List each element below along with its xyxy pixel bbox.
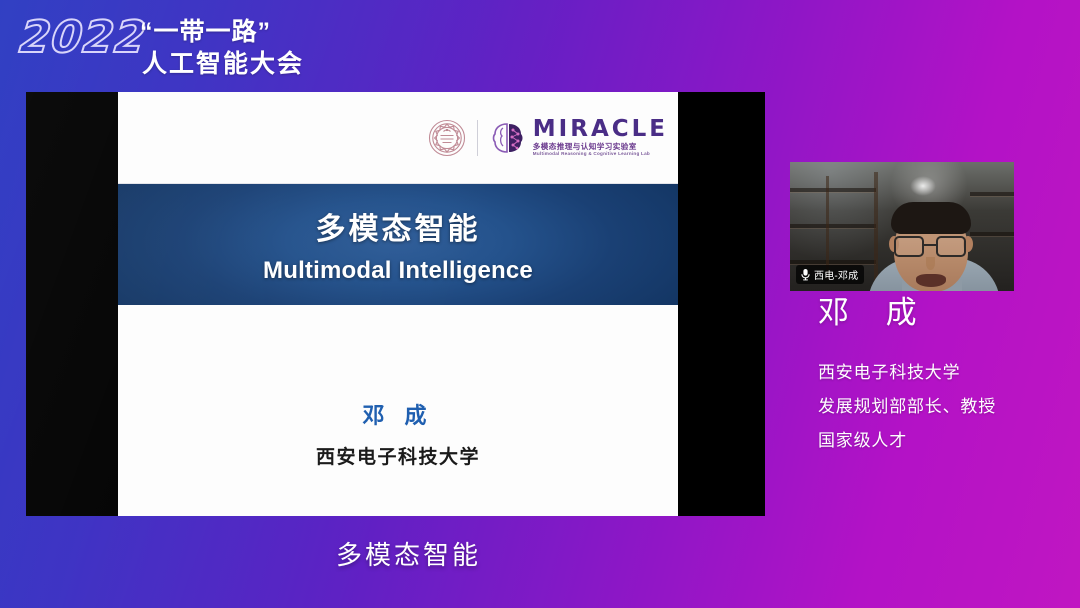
presentation-slide: MIRACLE 多模态推理与认知学习实验室 Multimodal Reasoni… bbox=[118, 92, 678, 516]
slide-speaker-name: 邓 成 bbox=[118, 398, 678, 430]
person-nose bbox=[926, 257, 935, 270]
lab-name-cn: 多模态推理与认知学习实验室 bbox=[533, 143, 668, 151]
event-logo-year: 2022 bbox=[17, 12, 149, 63]
person-mouth bbox=[916, 274, 946, 287]
shelf-board bbox=[970, 232, 1014, 236]
slide-logo-row: MIRACLE 多模态推理与认知学习实验室 Multimodal Reasoni… bbox=[118, 92, 678, 183]
speaker-video-tile[interactable]: 西电-邓成 bbox=[790, 162, 1014, 291]
shelf-board bbox=[790, 224, 876, 228]
event-logo: 2022 “一带一路” 人工智能大会 bbox=[18, 8, 318, 80]
eyeglasses-right-lens bbox=[936, 236, 966, 257]
slide-body: 邓 成 西安电子科技大学 bbox=[118, 305, 678, 516]
person-hair bbox=[891, 202, 971, 234]
eyeglasses-left-lens bbox=[894, 236, 924, 257]
event-logo-line2: 人工智能大会 bbox=[142, 44, 304, 80]
speaker-honor-line: 国家级人才 bbox=[818, 432, 1068, 449]
lab-name-en: Multimodal Reasoning & Cognitive Learnin… bbox=[533, 152, 668, 157]
screen-share-frame[interactable]: MIRACLE 多模态推理与认知学习实验室 Multimodal Reasoni… bbox=[26, 92, 765, 516]
lab-logo: MIRACLE 多模态推理与认知学习实验室 Multimodal Reasoni… bbox=[490, 118, 668, 157]
slide-speaker-org: 西安电子科技大学 bbox=[118, 442, 678, 469]
lab-logo-text: MIRACLE 多模态推理与认知学习实验室 Multimodal Reasoni… bbox=[533, 118, 668, 157]
brain-icon bbox=[490, 120, 526, 156]
speaker-affiliation-line: 西安电子科技大学 bbox=[818, 364, 1068, 381]
speaker-info-panel: 邓 成 西安电子科技大学 发展规划部部长、教授 国家级人才 bbox=[818, 296, 1068, 449]
shelf-board bbox=[970, 192, 1014, 196]
broadcast-stage: 2022 “一带一路” 人工智能大会 bbox=[0, 0, 1080, 608]
university-seal-icon bbox=[427, 118, 467, 158]
ceiling-light bbox=[910, 176, 936, 196]
talk-title-caption: 多模态智能 bbox=[0, 535, 1080, 572]
shelf-post bbox=[874, 172, 878, 284]
lab-name: MIRACLE bbox=[533, 118, 668, 141]
speaker-title-line: 发展规划部部长、教授 bbox=[818, 398, 1068, 415]
slide-title-band: 多模态智能 Multimodal Intelligence bbox=[118, 183, 678, 305]
logo-divider bbox=[477, 120, 478, 156]
microphone-icon bbox=[800, 268, 811, 281]
shelf-board bbox=[790, 188, 876, 192]
slide-title-en: Multimodal Intelligence bbox=[263, 257, 533, 285]
participant-name: 西电-邓成 bbox=[814, 267, 858, 282]
slide-title-cn: 多模态智能 bbox=[316, 204, 481, 248]
event-logo-line1: “一带一路” bbox=[140, 12, 271, 48]
participant-name-badge: 西电-邓成 bbox=[796, 265, 864, 284]
shelf-board bbox=[790, 260, 876, 264]
speaker-name: 邓 成 bbox=[818, 296, 1068, 330]
eyeglasses-bridge bbox=[924, 244, 936, 246]
